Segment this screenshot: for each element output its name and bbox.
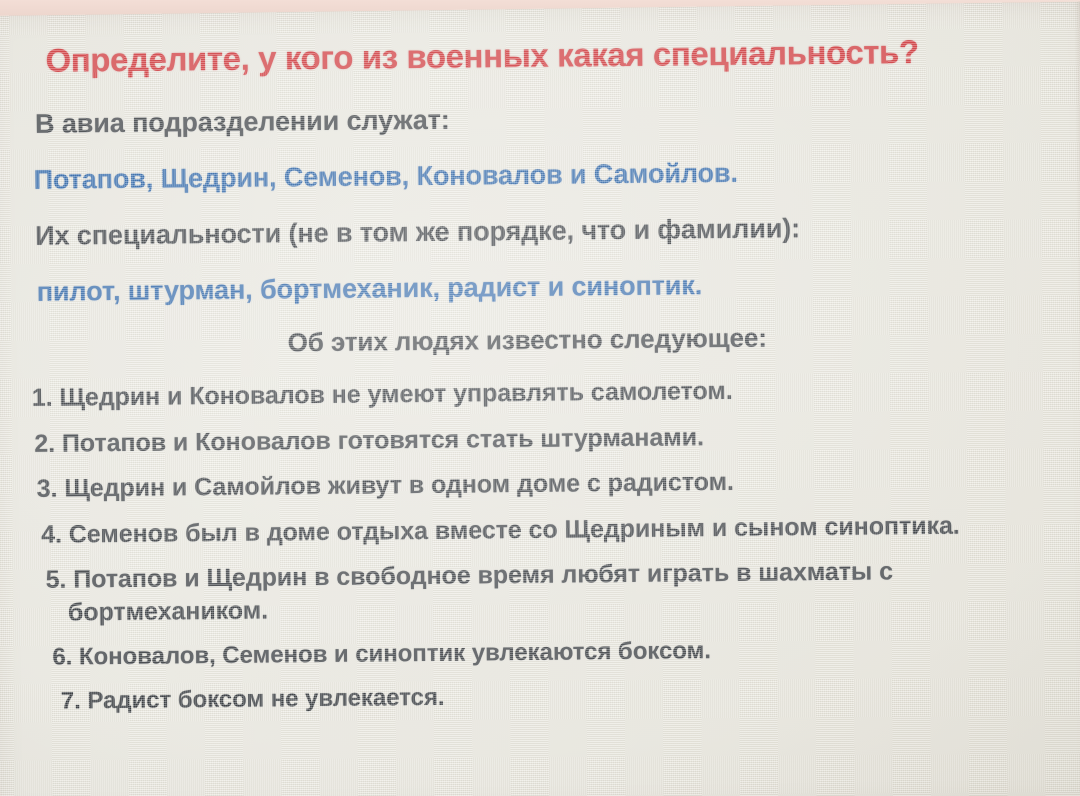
list-item: 3. Щедрин и Самойлов живут в одном доме …: [19, 463, 1039, 506]
projection-screen: Определите, у кого из военных какая спец…: [0, 2, 1080, 796]
intro-line-specialties-label: Их специальности (не в том же порядке, ч…: [35, 215, 800, 250]
list-item: 4. Семенов был в доме отдыха вместе со Щ…: [19, 509, 1023, 551]
fact-text: 5. Потапов и Щедрин в свободное время лю…: [67, 555, 968, 629]
page-title: Определите, у кого из военных какая спец…: [45, 33, 919, 80]
intro-line-specialties: пилот, штурман, бортмеханик, радист и си…: [37, 272, 703, 306]
fact-text: 6. Коновалов, Семенов и синоптик увлекаю…: [74, 632, 1040, 673]
intro-line-names: Потапов, Щедрин, Семенов, Коновалов и Са…: [34, 160, 738, 195]
list-item: 2. Потапов и Коновалов готовятся стать ш…: [18, 417, 1038, 460]
fact-text: 2. Потапов и Коновалов готовятся стать ш…: [56, 417, 1038, 459]
fact-text: 7. Радист боксом не увлекается.: [83, 676, 1041, 717]
known-facts-heading: Об этих людях известно следующее:: [17, 322, 1037, 359]
list-item: 5. Потапов и Щедрин в свободное время лю…: [19, 555, 968, 629]
slide-photo: Определите, у кого из военных какая спец…: [0, 0, 1080, 796]
intro-line-unit: В авиа подразделении служат:: [35, 107, 450, 139]
fact-text: 1. Щедрин и Коновалов не умеют управлять…: [54, 372, 1038, 414]
facts-list: 1. Щедрин и Коновалов не умеют управлять…: [18, 372, 1041, 731]
fact-text: 3. Щедрин и Самойлов живут в одном доме …: [59, 463, 1039, 505]
right-edge-shadow: [1074, 2, 1080, 796]
list-item: 6. Коновалов, Семенов и синоптик увлекаю…: [20, 632, 1040, 673]
list-item: 1. Щедрин и Коновалов не умеют управлять…: [18, 372, 1038, 415]
fact-text: 4. Семенов был в доме отдыха вместе со Щ…: [63, 509, 1023, 551]
list-item: 7. Радист боксом не увлекается.: [21, 676, 1041, 717]
